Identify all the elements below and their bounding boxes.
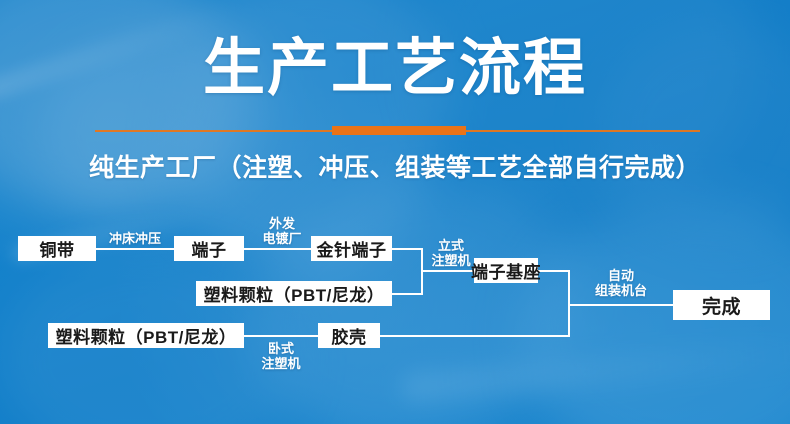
edge-label-vertical-molding: 立式 注塑机: [427, 238, 475, 268]
edge-label-outsourced-plating: 外发 电镀厂: [246, 216, 318, 246]
node-label: 端子基座: [471, 258, 541, 283]
connector-copper-to-terminal: [95, 248, 175, 250]
node-plastic-pellets-lower[interactable]: 塑料颗粒（PBT/尼龙）: [48, 323, 244, 348]
edge-label-line1: 外发: [246, 216, 318, 231]
edge-label-line1: 卧式: [256, 341, 306, 356]
edge-label-line2: 组装机台: [588, 283, 654, 298]
node-label: 塑料颗粒（PBT/尼龙）: [56, 323, 237, 348]
node-label: 塑料颗粒（PBT/尼龙）: [204, 281, 385, 306]
connector-terminal-to-goldpin: [243, 248, 321, 250]
node-terminal-base[interactable]: 端子基座: [474, 258, 538, 283]
connector-pellets1-out: [391, 293, 423, 295]
production-process-banner: 生产工艺流程 纯生产工厂（注塑、冲压、组装等工艺全部自行完成） 铜带 端子 金针…: [0, 0, 790, 424]
node-copper-strip[interactable]: 铜带: [18, 236, 96, 261]
node-label: 胶壳: [332, 323, 367, 348]
node-gold-pin-terminal[interactable]: 金针端子: [311, 236, 392, 261]
node-finished[interactable]: 完成: [673, 290, 770, 320]
node-label: 金针端子: [317, 236, 387, 261]
edge-label-line2: 电镀厂: [246, 231, 318, 246]
edge-label-line2: 注塑机: [256, 356, 306, 371]
edge-label-line1: 自动: [588, 268, 654, 283]
connector-merge-to-finished: [568, 304, 674, 306]
edge-label-punch-press: 冲床冲压: [98, 231, 172, 246]
node-plastic-housing[interactable]: 胶壳: [318, 323, 380, 348]
connector-housing-out: [380, 335, 570, 337]
connector-goldpin-out: [391, 248, 423, 250]
node-label: 完成: [702, 292, 741, 319]
connector-vertical-merge-right: [568, 270, 570, 336]
edge-label-line1: 冲床冲压: [98, 231, 172, 246]
edge-label-line2: 注塑机: [427, 253, 475, 268]
node-label: 端子: [192, 236, 227, 261]
node-terminal[interactable]: 端子: [174, 236, 244, 261]
process-flow-diagram: 铜带 端子 金针端子 塑料颗粒（PBT/尼龙） 端子基座 塑料颗粒（PBT/尼龙…: [0, 0, 790, 424]
edge-label-line1: 立式: [427, 238, 475, 253]
connector-merge-to-terminal-base: [421, 270, 474, 272]
connector-pellets2-to-housing: [244, 335, 318, 337]
node-label: 铜带: [40, 236, 75, 261]
edge-label-horizontal-molding: 卧式 注塑机: [256, 341, 306, 371]
node-plastic-pellets-upper[interactable]: 塑料颗粒（PBT/尼龙）: [196, 281, 392, 306]
connector-terminal-base-out: [537, 270, 570, 272]
edge-label-auto-assembly: 自动 组装机台: [588, 268, 654, 298]
